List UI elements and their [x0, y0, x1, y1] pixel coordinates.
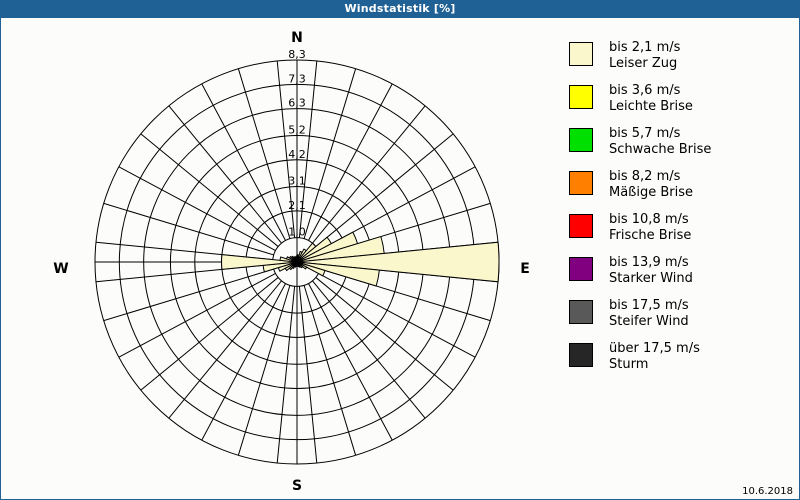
wind-rose-svg: 1,02,13,14,25,26,37,38,3 [1, 18, 561, 500]
legend-beaufort-name: Sturm [609, 357, 700, 373]
window-title: Windstatistik [%] [344, 2, 455, 15]
legend-label-group: bis 17,5 m/sSteifer Wind [609, 298, 689, 330]
wind-statistics-window: Windstatistik [%] 1,02,13,14,25,26,37,38… [0, 0, 800, 500]
legend-item: bis 13,9 m/sStarker Wind [569, 255, 794, 287]
legend-speed-range: bis 2,1 m/s [609, 40, 680, 56]
legend-color-swatch [569, 214, 593, 238]
legend-item: bis 2,1 m/sLeiser Zug [569, 40, 794, 72]
legend-label-group: bis 10,8 m/sFrische Brise [609, 212, 691, 244]
legend-speed-range: über 17,5 m/s [609, 341, 700, 357]
legend-color-swatch [569, 85, 593, 109]
radial-tick-label: 1,0 [288, 226, 306, 239]
grid-spoke [277, 286, 294, 463]
legend-speed-range: bis 17,5 m/s [609, 298, 689, 314]
legend-beaufort-name: Starker Wind [609, 271, 693, 287]
radial-tick-label: 2,1 [288, 199, 306, 212]
grid-spoke [304, 69, 356, 239]
radial-tick-label: 5,2 [288, 123, 306, 136]
legend-item: bis 5,7 m/sSchwache Brise [569, 126, 794, 158]
legend-item: bis 3,6 m/sLeichte Brise [569, 83, 794, 115]
window-title-bar: Windstatistik [%] [0, 0, 800, 18]
legend-beaufort-name: Frische Brise [609, 228, 691, 244]
legend-label-group: bis 3,6 m/sLeichte Brise [609, 83, 693, 115]
legend-color-swatch [569, 128, 593, 152]
legend-color-swatch [569, 171, 593, 195]
legend-color-swatch [569, 343, 593, 367]
legend-color-swatch [569, 300, 593, 324]
radial-tick-label: 7,3 [288, 72, 306, 85]
grid-spoke [238, 285, 290, 455]
legend-color-swatch [569, 257, 593, 281]
wind-petals [222, 232, 499, 286]
legend-label-group: bis 13,9 m/sStarker Wind [609, 255, 693, 287]
legend-item: bis 8,2 m/sMäßige Brise [569, 169, 794, 201]
legend-label-group: bis 8,2 m/sMäßige Brise [609, 169, 693, 201]
radial-tick-label: 6,3 [288, 97, 306, 110]
window-client-area: 1,02,13,14,25,26,37,38,3 N E S W bis 2,1… [0, 18, 800, 500]
radial-tick-label: 3,1 [288, 175, 306, 188]
compass-label-west: W [48, 261, 74, 277]
legend-label-group: bis 2,1 m/sLeiser Zug [609, 40, 680, 72]
grid-spoke [104, 203, 274, 255]
grid-spoke [299, 286, 316, 463]
wind-rose-chart: 1,02,13,14,25,26,37,38,3 N E S W [1, 18, 561, 500]
legend-beaufort-name: Schwache Brise [609, 142, 711, 158]
compass-label-south: S [284, 478, 310, 494]
legend-speed-range: bis 3,6 m/s [609, 83, 693, 99]
radial-tick-label: 4,2 [288, 148, 306, 161]
legend-speed-range: bis 5,7 m/s [609, 126, 711, 142]
legend-color-swatch [569, 42, 593, 66]
legend-speed-range: bis 10,8 m/s [609, 212, 691, 228]
legend: bis 2,1 m/sLeiser Zugbis 3,6 m/sLeichte … [569, 40, 794, 384]
legend-label-group: bis 5,7 m/sSchwache Brise [609, 126, 711, 158]
compass-label-east: E [512, 261, 538, 277]
legend-beaufort-name: Mäßige Brise [609, 185, 693, 201]
legend-beaufort-name: Steifer Wind [609, 314, 689, 330]
legend-item: über 17,5 m/sSturm [569, 341, 794, 373]
grid-spoke [238, 69, 290, 239]
radial-tick-label: 8,3 [288, 48, 306, 61]
grid-spoke [104, 269, 274, 321]
legend-item: bis 17,5 m/sSteifer Wind [569, 298, 794, 330]
legend-item: bis 10,8 m/sFrische Brise [569, 212, 794, 244]
date-stamp: 10.6.2018 [742, 486, 793, 497]
legend-beaufort-name: Leichte Brise [609, 99, 693, 115]
legend-beaufort-name: Leiser Zug [609, 56, 680, 72]
compass-label-north: N [284, 30, 310, 46]
legend-speed-range: bis 8,2 m/s [609, 169, 693, 185]
legend-label-group: über 17,5 m/sSturm [609, 341, 700, 373]
grid-spoke [304, 285, 356, 455]
legend-speed-range: bis 13,9 m/s [609, 255, 693, 271]
